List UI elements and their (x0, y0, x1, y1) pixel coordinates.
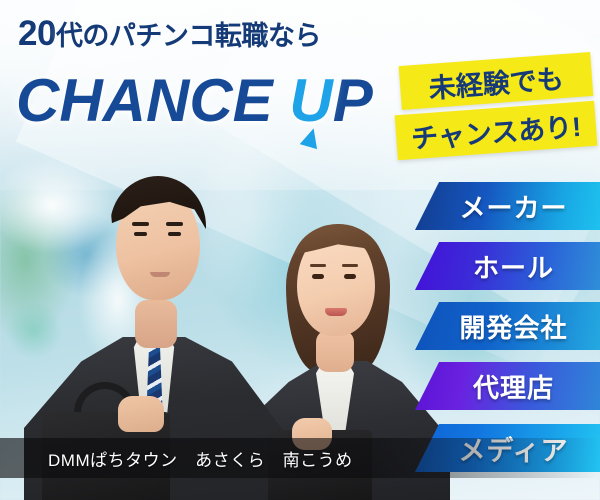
tag-development-company-label: 開発会社 (447, 308, 567, 345)
caption-text: DMMぱちタウン あさくら 南こうめ (0, 446, 353, 471)
tag-development-company[interactable]: 開発会社 (415, 302, 600, 350)
caption-bar: DMMぱちタウン あさくら 南こうめ (0, 438, 600, 478)
tag-hall-label: ホール (461, 248, 554, 285)
tag-maker[interactable]: メーカー (415, 182, 600, 230)
tag-agency-label: 代理店 (461, 368, 554, 405)
category-tag-list: メーカー ホール 開発会社 代理店 メディア (0, 0, 600, 500)
tag-maker-label: メーカー (447, 188, 567, 225)
promo-banner: 20代のパチンコ転職なら CHANCE UP 未経験でも チャンスあり! メーカ… (0, 0, 600, 500)
tag-hall[interactable]: ホール (415, 242, 600, 290)
tag-agency[interactable]: 代理店 (415, 362, 600, 410)
